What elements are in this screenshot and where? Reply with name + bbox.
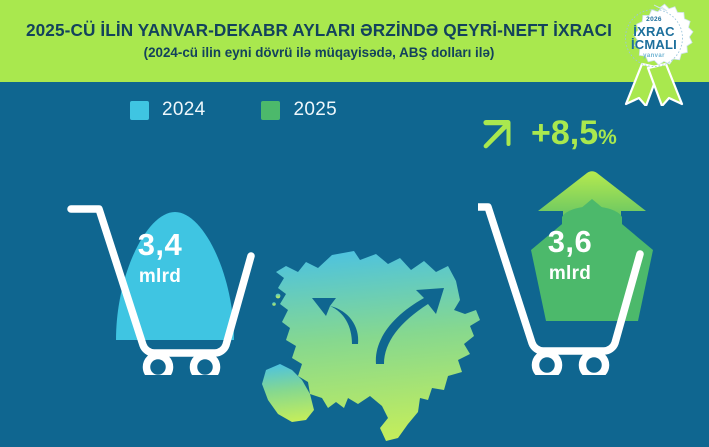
legend-label-2024: 2024 bbox=[162, 99, 205, 121]
cart-2025-wheel-left bbox=[536, 354, 559, 376]
chart-legend: 2024 2025 bbox=[130, 99, 337, 121]
growth-indicator: +8,5% bbox=[474, 112, 617, 154]
legend-swatch-2025 bbox=[261, 101, 280, 120]
page-title: 2025-CÜ İLİN YANVAR-DEKABR AYLARI ƏRZİND… bbox=[26, 21, 612, 41]
arrow-up-right-icon bbox=[474, 112, 518, 154]
growth-value-wrapper: +8,5% bbox=[531, 116, 617, 150]
cart-2024-wheel-right bbox=[194, 356, 217, 376]
legend-label-2025: 2025 bbox=[293, 99, 336, 121]
azerbaijan-map bbox=[248, 248, 488, 447]
cart-2025-graphic bbox=[478, 165, 709, 375]
growth-value: +8,5 bbox=[531, 114, 598, 152]
header-text-block: 2025-CÜ İLİN YANVAR-DEKABR AYLARI ƏRZİND… bbox=[0, 0, 620, 82]
cart-2024-wheel-left bbox=[147, 356, 170, 376]
azerbaijan-map-graphic bbox=[248, 248, 488, 447]
infographic-root: 2025-CÜ İLİN YANVAR-DEKABR AYLARI ƏRZİND… bbox=[0, 0, 709, 447]
export-review-seal: 2026 İXRAC İCMALI yanvar bbox=[612, 2, 696, 106]
cart-2025 bbox=[478, 165, 709, 375]
page-subtitle: (2024-cü ilin eyni dövrü ilə müqayisədə,… bbox=[144, 45, 495, 60]
legend-item-2024: 2024 bbox=[130, 99, 205, 121]
seal-graphic bbox=[612, 2, 696, 106]
header-banner: 2025-CÜ İLİN YANVAR-DEKABR AYLARI ƏRZİND… bbox=[0, 0, 709, 82]
growth-unit: % bbox=[598, 126, 617, 149]
cart-2025-wheel-right bbox=[583, 354, 606, 376]
legend-item-2025: 2025 bbox=[261, 99, 336, 121]
legend-swatch-2024 bbox=[130, 101, 149, 120]
